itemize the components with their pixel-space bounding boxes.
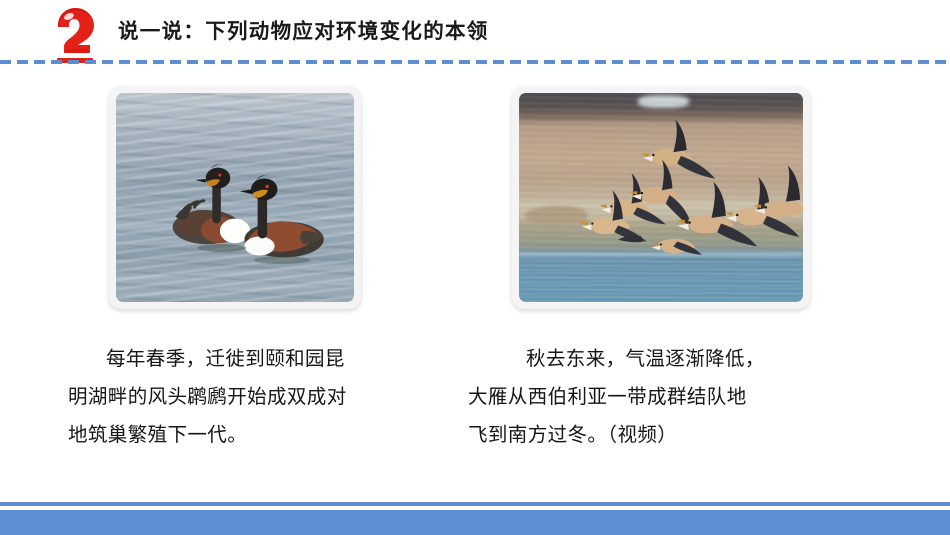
grebe-birds-icon [116,93,354,302]
caption-right-line-2: 大雁从西伯利亚一带成群结队地 [468,378,868,416]
footer-thin-bar [0,502,950,506]
caption-left-line-1: 每年春季，迁徙到颐和园昆 [68,340,448,378]
slide-header: 说一说：下列动物应对环境变化的本领 [0,0,950,70]
photo-row [0,78,950,318]
balloon-number-2-icon [52,6,98,58]
grebes-photo [116,93,354,302]
geese-photo-frame[interactable] [512,86,810,309]
caption-left-line-2: 明湖畔的风头䴙䴘开始成双成对 [68,378,448,416]
flying-geese-icon [519,93,803,302]
page-title: 说一说：下列动物应对环境变化的本领 [118,14,489,44]
caption-right-line-1: 秋去东来，气温逐渐降低， [468,340,868,378]
caption-right-line-3: 飞到南方过冬。（视频） [468,416,868,454]
geese-photo [519,93,803,302]
grebes-photo-frame[interactable] [109,86,361,309]
dashed-rule-icon [0,60,950,64]
footer-bar-icon [0,510,950,535]
caption-right: 秋去东来，气温逐渐降低， 大雁从西伯利亚一带成群结队地 飞到南方过冬。（视频） [468,340,868,454]
slide-root: 说一说：下列动物应对环境变化的本领 [0,0,950,535]
caption-left: 每年春季，迁徙到颐和园昆 明湖畔的风头䴙䴘开始成双成对 地筑巢繁殖下一代。 [68,340,448,454]
caption-left-line-3: 地筑巢繁殖下一代。 [68,416,448,454]
